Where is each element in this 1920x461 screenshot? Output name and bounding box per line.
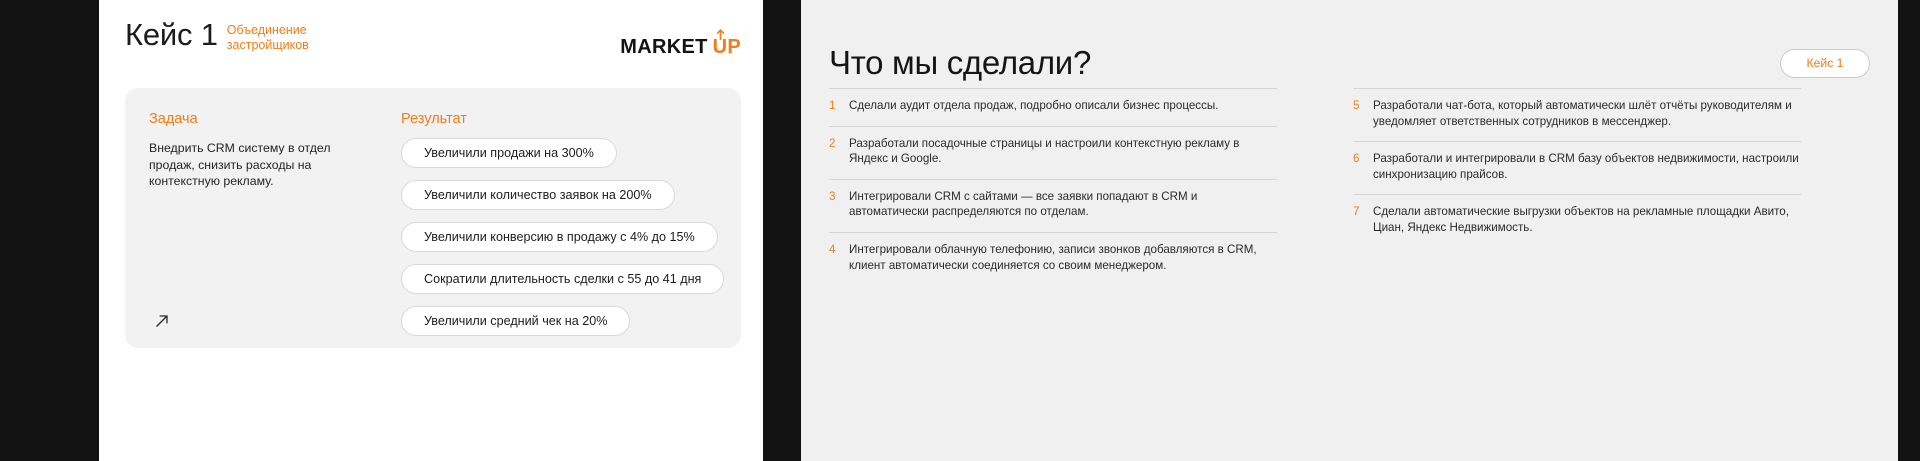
result-pill[interactable]: Увеличили количество заявок на 200% <box>401 180 675 210</box>
status-badge[interactable]: Кейс 1 <box>1780 49 1870 78</box>
list-item: 7 Сделали автоматические выгрузки объект… <box>1353 194 1801 247</box>
arrow-up-icon <box>715 29 726 41</box>
steps-column-left: 1 Сделали аудит отдела продаж, подробно … <box>829 88 1277 285</box>
step-number: 4 <box>829 242 839 273</box>
result-pill[interactable]: Сократили длительность сделки с 55 до 41… <box>401 264 724 294</box>
page-title: Кейс 1 <box>125 16 218 54</box>
logo-text-up-wrap: UP <box>713 37 741 57</box>
case-subtitle: Объединение застройщиков <box>227 16 347 52</box>
step-number: 3 <box>829 189 839 220</box>
card-columns: Задача Внедрить CRM систему в отдел прод… <box>125 88 741 336</box>
result-pill-list: Увеличили продажи на 300% Увеличили коли… <box>401 138 724 336</box>
step-text: Разработали чат-бота, который автоматиче… <box>1373 98 1801 129</box>
list-item: 1 Сделали аудит отдела продаж, подробно … <box>829 88 1277 126</box>
task-description: Внедрить CRM систему в отдел продаж, сни… <box>149 140 359 189</box>
step-text: Интегрировали облачную телефонию, записи… <box>849 242 1277 273</box>
frame-gutter-left <box>0 0 99 461</box>
slide-case-overview: Кейс 1 Объединение застройщиков MARKET U… <box>99 0 763 461</box>
step-text: Сделали аудит отдела продаж, подробно оп… <box>849 98 1218 114</box>
frame-gutter-right <box>1898 0 1920 461</box>
steps-column-right: 5 Разработали чат-бота, который автомати… <box>1353 88 1801 285</box>
list-item: 5 Разработали чат-бота, который автомати… <box>1353 88 1801 141</box>
step-text: Интегрировали CRM с сайтами — все заявки… <box>849 189 1277 220</box>
step-text: Сделали автоматические выгрузки объектов… <box>1373 204 1801 235</box>
list-item: 4 Интегрировали облачную телефонию, запи… <box>829 232 1277 285</box>
market-up-logo: MARKET UP <box>620 37 741 57</box>
right-page-title: Что мы сделали? <box>829 42 1091 84</box>
result-pill[interactable]: Увеличили средний чек на 20% <box>401 306 630 336</box>
step-number: 2 <box>829 136 839 167</box>
task-heading: Задача <box>149 110 401 128</box>
steps-columns: 1 Сделали аудит отдела продаж, подробно … <box>829 88 1870 285</box>
task-column: Задача Внедрить CRM систему в отдел прод… <box>149 110 401 336</box>
frame-gutter-middle <box>763 0 801 461</box>
left-slide-header: Кейс 1 Объединение застройщиков MARKET U… <box>125 16 743 72</box>
list-item: 2 Разработали посадочные страницы и наст… <box>829 126 1277 179</box>
step-text: Разработали и интегрировали в CRM базу о… <box>1373 151 1801 182</box>
result-pill[interactable]: Увеличили конверсию в продажу с 4% до 15… <box>401 222 718 252</box>
logo-text-market: MARKET <box>620 37 707 57</box>
step-number: 6 <box>1353 151 1363 182</box>
list-item: 6 Разработали и интегрировали в CRM базу… <box>1353 141 1801 194</box>
slides-stage: Кейс 1 Объединение застройщиков MARKET U… <box>0 0 1920 461</box>
case-summary-card: Задача Внедрить CRM систему в отдел прод… <box>125 88 741 348</box>
step-text: Разработали посадочные страницы и настро… <box>849 136 1277 167</box>
result-heading: Результат <box>401 110 724 128</box>
step-number: 5 <box>1353 98 1363 129</box>
list-item: 3 Интегрировали CRM с сайтами — все заяв… <box>829 179 1277 232</box>
step-number: 1 <box>829 98 839 114</box>
result-column: Результат Увеличили продажи на 300% Увел… <box>401 110 724 336</box>
result-pill[interactable]: Увеличили продажи на 300% <box>401 138 617 168</box>
step-number: 7 <box>1353 204 1363 235</box>
slide-what-we-did: Что мы сделали? Кейс 1 1 Сделали аудит о… <box>801 0 1898 461</box>
arrow-up-right-icon[interactable] <box>153 312 171 330</box>
